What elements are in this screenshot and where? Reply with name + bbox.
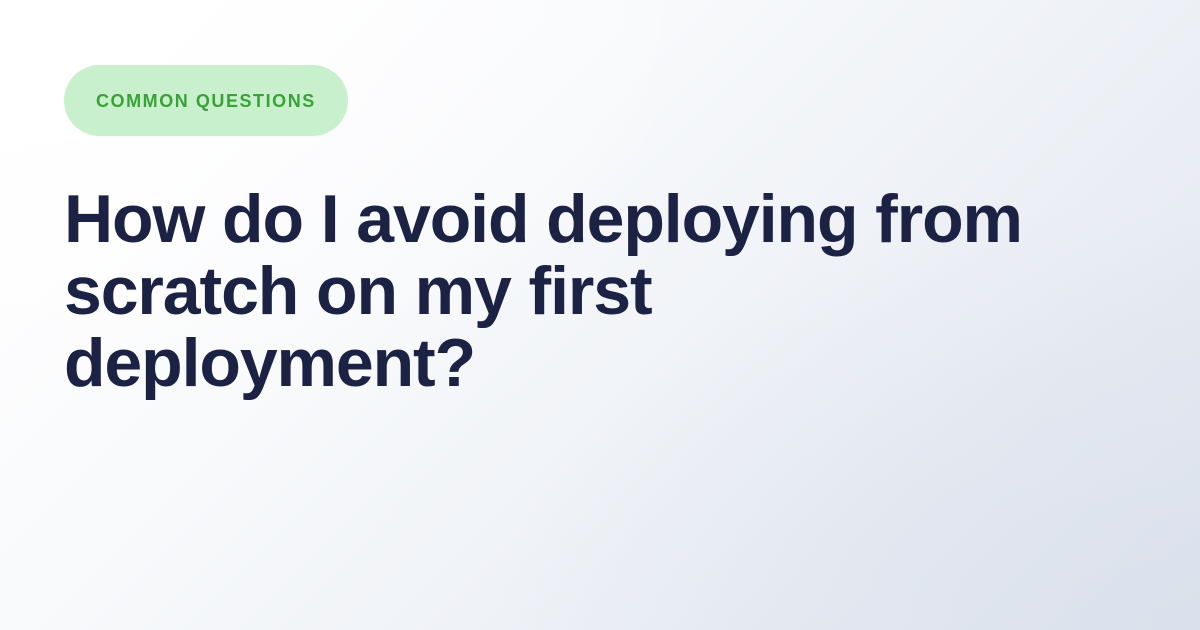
card-content: COMMON QUESTIONS How do I avoid deployin…: [64, 65, 1136, 399]
og-card: COMMON QUESTIONS How do I avoid deployin…: [0, 0, 1200, 630]
status-badge-label: COMMON QUESTIONS: [96, 92, 316, 110]
status-badge: COMMON QUESTIONS: [64, 65, 348, 136]
page-title: How do I avoid deploying from scratch on…: [64, 136, 1064, 399]
